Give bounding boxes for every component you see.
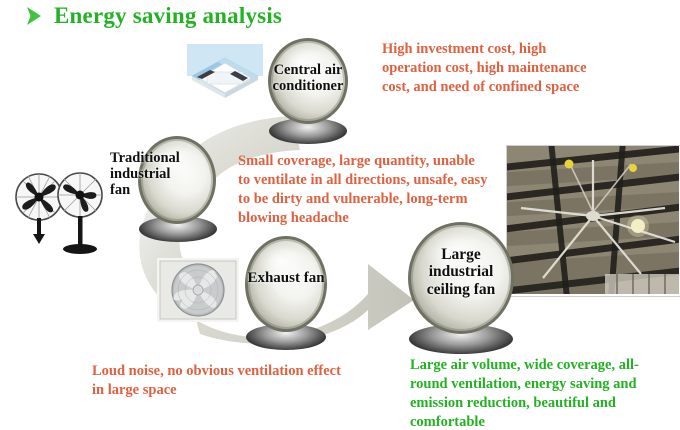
ceiling-fan-photo: [506, 145, 680, 297]
slide-canvas: Energy saving analysis: [0, 0, 680, 430]
node-large-industrial-ceiling-fan[interactable]: Large industrial ceiling fan: [400, 222, 522, 350]
node-exhaust-fan[interactable]: Exhaust fan: [238, 236, 334, 346]
node-label: Central air conditioner: [258, 62, 358, 94]
node-central-air-conditioner[interactable]: Central air conditioner: [264, 38, 352, 142]
node-label: Large industrial ceiling fan: [404, 246, 518, 298]
node-label: Traditional industrial fan: [104, 150, 238, 199]
callout-exhaust-fan: Loud noise, no obvious ventilation effec…: [92, 362, 348, 400]
air-conditioner-photo: [182, 36, 268, 108]
callout-traditional-industrial-fan: Small coverage, large quantity, unable t…: [238, 152, 490, 227]
exhaust-fan-photo: [157, 258, 239, 322]
callout-large-industrial-ceiling-fan: Large air volume, wide coverage, all-rou…: [410, 356, 652, 430]
node-traditional-industrial-fan[interactable]: Traditional industrial fan: [132, 136, 224, 240]
node-label: Exhaust fan: [236, 270, 336, 287]
callout-central-air-conditioner: High investment cost, high operation cos…: [382, 40, 592, 97]
pedestal-fans-photo: [4, 160, 112, 260]
